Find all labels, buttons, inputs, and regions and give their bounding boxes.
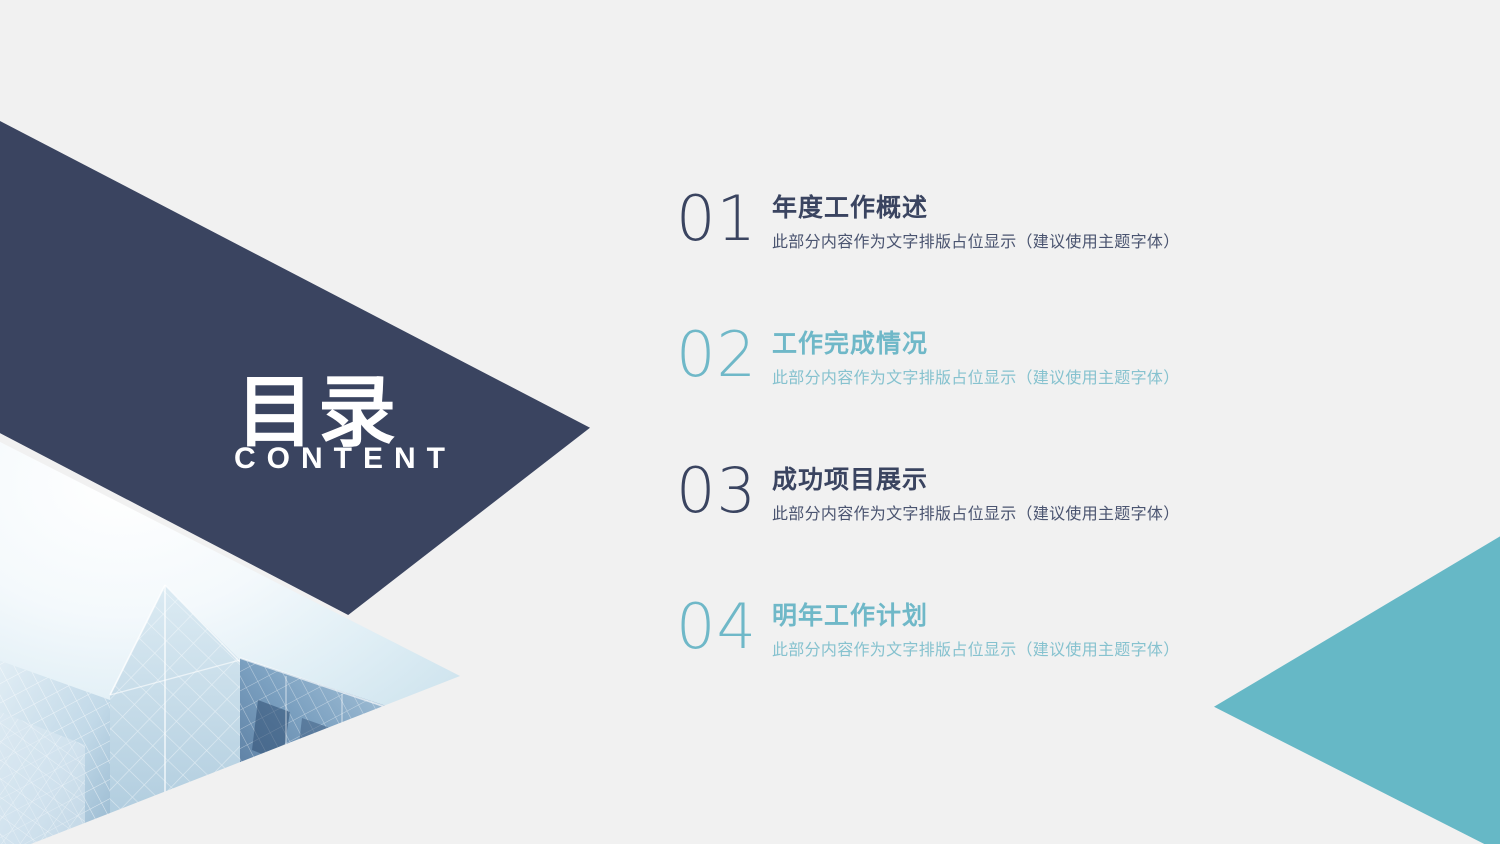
agenda-title-04: 明年工作计划 xyxy=(772,602,1376,630)
agenda-title-02: 工作完成情况 xyxy=(772,330,1376,358)
agenda-text-02: 工作完成情况 此部分内容作为文字排版占位显示（建议使用主题字体） xyxy=(772,326,1376,388)
agenda-number-04: 04 xyxy=(676,598,772,657)
agenda-desc-02: 此部分内容作为文字排版占位显示（建议使用主题字体） xyxy=(772,368,1376,388)
agenda-desc-03: 此部分内容作为文字排版占位显示（建议使用主题字体） xyxy=(772,504,1376,524)
agenda-number-02: 02 xyxy=(676,326,772,385)
agenda-item-01[interactable]: 01 年度工作概述 此部分内容作为文字排版占位显示（建议使用主题字体） xyxy=(676,190,1376,290)
slide-canvas: 目录 CONTENT 01 年度工作概述 此部分内容作为文字排版占位显示（建议使… xyxy=(0,0,1500,844)
agenda-title-03: 成功项目展示 xyxy=(772,466,1376,494)
agenda-desc-04: 此部分内容作为文字排版占位显示（建议使用主题字体） xyxy=(772,640,1376,660)
agenda-list: 01 年度工作概述 此部分内容作为文字排版占位显示（建议使用主题字体） 02 工… xyxy=(676,190,1376,698)
agenda-item-04[interactable]: 04 明年工作计划 此部分内容作为文字排版占位显示（建议使用主题字体） xyxy=(676,598,1376,698)
agenda-text-04: 明年工作计划 此部分内容作为文字排版占位显示（建议使用主题字体） xyxy=(772,598,1376,660)
agenda-title-01: 年度工作概述 xyxy=(772,194,1376,222)
left-decoration-group: 目录 CONTENT xyxy=(0,0,640,844)
agenda-number-03: 03 xyxy=(676,462,772,521)
agenda-text-01: 年度工作概述 此部分内容作为文字排版占位显示（建议使用主题字体） xyxy=(772,190,1376,252)
agenda-text-03: 成功项目展示 此部分内容作为文字排版占位显示（建议使用主题字体） xyxy=(772,462,1376,524)
agenda-item-02[interactable]: 02 工作完成情况 此部分内容作为文字排版占位显示（建议使用主题字体） xyxy=(676,326,1376,426)
agenda-desc-01: 此部分内容作为文字排版占位显示（建议使用主题字体） xyxy=(772,232,1376,252)
agenda-item-03[interactable]: 03 成功项目展示 此部分内容作为文字排版占位显示（建议使用主题字体） xyxy=(676,462,1376,562)
agenda-number-01: 01 xyxy=(676,190,772,249)
